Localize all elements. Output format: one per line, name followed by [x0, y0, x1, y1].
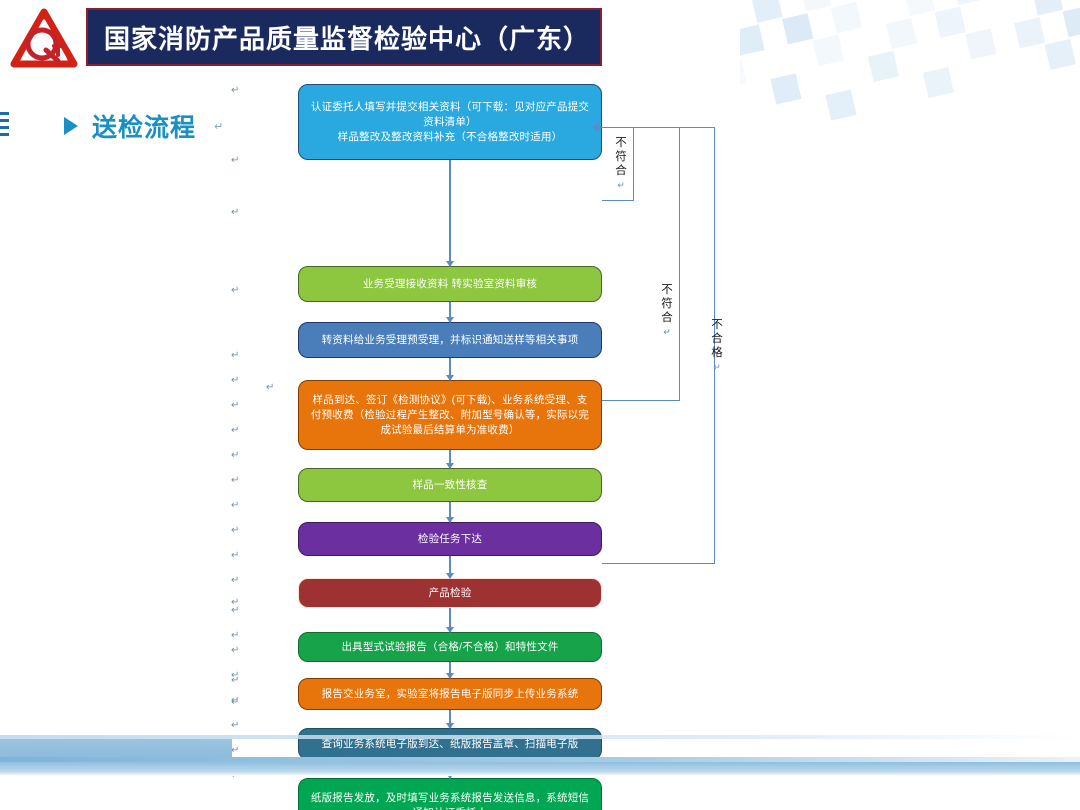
flow-node-label: 认证委托人填写并提交相关资料（可下载：见对应产品提交资料清单）样品整改及整改资料…: [309, 100, 591, 145]
flow-node-issue-report[interactable]: 出具型式试验报告（合格/不合格）和特性文件: [298, 632, 602, 662]
connector-arrow: [449, 608, 451, 632]
flow-node-stamp-scan-report[interactable]: 查询业务系统电子版到达、纸版报告盖章、扫描电子版: [298, 728, 602, 760]
flow-node-upload-report[interactable]: 报告交业务室，实验室将报告电子版同步上传业务系统: [298, 678, 602, 710]
flow-node-sample-consistency-check[interactable]: 样品一致性核查: [298, 468, 602, 502]
connector-arrow: [449, 450, 451, 468]
loop-label-nonconforming-1: 不符合↵: [614, 136, 628, 192]
footer-decoration-band: [0, 762, 1080, 776]
flow-node-label: 样品一致性核查: [309, 478, 591, 493]
page-title: 国家消防产品质量监督检验中心（广东）: [88, 19, 590, 56]
connector-arrow: [449, 302, 451, 322]
decorative-checker-pattern: [740, 0, 1080, 120]
flow-node-sample-arrival-agreement[interactable]: 样品到达、签订《检测协议》(可下载)、业务系统受理、支付预收费（检验过程产生整改…: [298, 380, 602, 450]
flow-node-label: 报告交业务室，实验室将报告电子版同步上传业务系统: [309, 687, 591, 702]
loop-label-nonconforming-2: 不符合↵: [660, 283, 674, 339]
flow-node-label: 转资料给业务受理预受理，并标识通知送样等相关事项: [309, 333, 591, 348]
paragraph-mark-icon: ↵: [266, 382, 274, 393]
connector-arrow: [449, 358, 451, 380]
loop-return-arrow-icon: [592, 123, 599, 131]
connector-arrow: [449, 502, 451, 522]
flow-node-receive-materials[interactable]: 业务受理接收资料 转实验室资料审核: [298, 266, 602, 302]
connector-arrow: [449, 710, 451, 728]
connector-arrow: [449, 556, 451, 578]
flow-node-pre-acceptance[interactable]: 转资料给业务受理预受理，并标识通知送样等相关事项: [298, 322, 602, 358]
cqc-logo: [8, 6, 80, 74]
flow-node-product-inspection[interactable]: 产品检验: [298, 578, 602, 608]
flow-node-label: 产品检验: [309, 586, 591, 601]
flow-node-label: 业务受理接收资料 转实验室资料审核: [309, 277, 591, 292]
section-title: 送检流程: [92, 108, 196, 144]
flow-node-task-assignment[interactable]: 检验任务下达: [298, 522, 602, 556]
flow-node-deliver-report[interactable]: 纸版报告发放，及时填写业务系统报告发送信息，系统短信通知认证委托人: [298, 778, 602, 810]
loop-label-unqualified: 不合格↵: [710, 318, 724, 374]
flow-node-label: 样品到达、签订《检测协议》(可下载)、业务系统受理、支付预收费（检验过程产生整改…: [309, 393, 591, 438]
left-edge-marks: [0, 112, 9, 148]
flow-node-submit-materials[interactable]: 认证委托人填写并提交相关资料（可下载：见对应产品提交资料清单）样品整改及整改资料…: [298, 84, 602, 160]
flow-node-label: 纸版报告发放，及时填写业务系统报告发送信息，系统短信通知认证委托人: [309, 791, 591, 810]
paragraph-mark-icon: ↵: [214, 120, 223, 133]
footer-decoration-block: [0, 739, 232, 757]
section-heading: 送检流程 ↵: [64, 108, 223, 144]
slide-canvas: 国家消防产品质量监督检验中心（广东） 送检流程 ↵ ↵↵↵↵↵↵↵↵↵↵↵↵↵↵…: [0, 0, 1080, 810]
arrow-bullet-icon: [64, 117, 78, 135]
page-title-banner: 国家消防产品质量监督检验中心（广东）: [86, 8, 602, 66]
flow-node-label: 检验任务下达: [309, 532, 591, 547]
connector-arrow: [449, 662, 451, 678]
paragraph-mark-column: ↵↵↵↵↵↵↵↵↵↵↵↵↵↵↵↵↵↵↵↵↵↵↵↵↵: [231, 86, 247, 776]
connector-arrow: [449, 160, 451, 266]
flow-node-label: 出具型式试验报告（合格/不合格）和特性文件: [309, 640, 591, 655]
